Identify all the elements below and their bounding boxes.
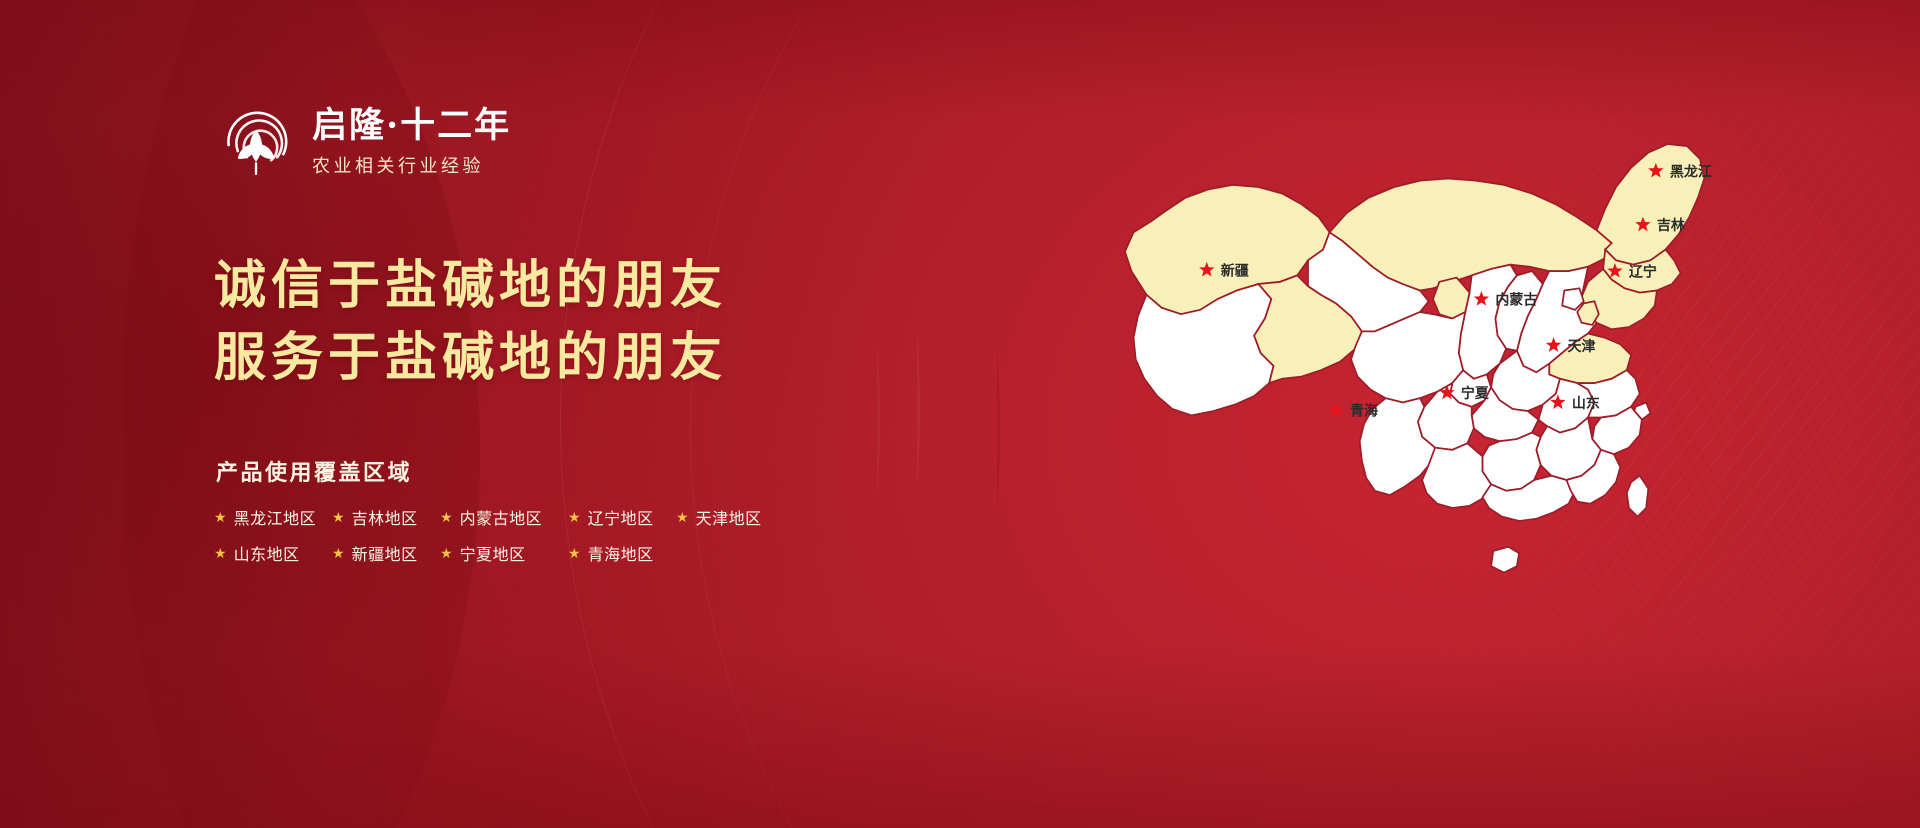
coverage-region-list: ★黑龙江地区★吉林地区★内蒙古地区★辽宁地区★天津地区★山东地区★新疆地区★宁夏… [214,505,796,565]
coverage-region-label: 天津地区 [696,505,762,529]
map-label-shandong: 山东 [1572,395,1600,412]
map-provinces [1125,144,1704,573]
coverage-region-label: 辽宁地区 [588,505,654,529]
map-label-jilin: 吉林 [1657,217,1685,234]
map-label-qinghai: 青海 [1350,402,1378,419]
star-icon: ★ [568,510,581,524]
map-label-tianjin: 天津 [1568,338,1596,355]
star-icon: ★ [332,510,345,524]
coverage-region-label: 黑龙江地区 [234,505,317,529]
star-icon: ★ [332,546,345,560]
brand-subtitle: 农业相关行业经验 [312,152,511,178]
province-guangxi [1422,443,1491,508]
province-heilongjiang [1597,144,1705,265]
coverage-region-item: ★青海地区 [568,541,676,565]
coverage-region-item: ★宁夏地区 [440,541,568,565]
coverage-region-label: 宁夏地区 [460,541,526,565]
map-label-neimenggu: 内蒙古 [1495,291,1537,308]
coverage-region-label: 吉林地区 [352,505,418,529]
star-icon: ★ [676,510,689,524]
star-icon: ★ [440,510,453,524]
star-icon: ★ [214,510,227,524]
map-label-xinjiang: 新疆 [1221,262,1249,279]
headline: 诚信于盐碱地的朋友 服务于盐碱地的朋友 [214,250,727,394]
coverage-region-item: ★天津地区 [676,505,796,529]
coverage-region-item: ★新疆地区 [332,541,440,565]
map-label-ningxia: 宁夏 [1461,385,1490,402]
headline-line-1: 诚信于盐碱地的朋友 [214,250,727,322]
china-coverage-map: 黑龙江吉林辽宁内蒙古天津山东宁夏青海新疆 [1090,60,1750,620]
map-label-liaoning: 辽宁 [1629,263,1657,280]
province-taiwan [1627,476,1649,517]
coverage-region-item: ★内蒙古地区 [440,505,568,529]
coverage-region-item: ★辽宁地区 [568,505,676,529]
coverage-title: 产品使用覆盖区域 [216,455,412,487]
brand-logo: 启隆·十二年 农业相关行业经验 [218,104,511,180]
headline-line-2: 服务于盐碱地的朋友 [214,322,727,394]
star-icon: ★ [440,546,453,560]
left-content: 启隆·十二年 农业相关行业经验 诚信于盐碱地的朋友 服务于盐碱地的朋友 产品使用… [200,0,960,828]
map-marker-qinghai: 青海 [1328,402,1378,419]
red-star-marker [1328,402,1343,417]
coverage-region-label: 新疆地区 [352,541,418,565]
coverage-region-item: ★黑龙江地区 [214,505,332,529]
coverage-region-item: ★吉林地区 [332,505,440,529]
coverage-region-label: 青海地区 [588,541,654,565]
brand-title: 启隆·十二年 [312,106,511,146]
coverage-region-label: 山东地区 [234,541,300,565]
star-icon: ★ [568,546,581,560]
province-hainan [1491,547,1519,573]
coverage-region-label: 内蒙古地区 [460,505,543,529]
coverage-region-item: ★山东地区 [214,541,332,565]
brand-text: 启隆·十二年 农业相关行业经验 [312,106,511,178]
banner-root: 启隆·十二年 农业相关行业经验 诚信于盐碱地的朋友 服务于盐碱地的朋友 产品使用… [0,0,1920,828]
star-icon: ★ [214,546,227,560]
map-label-heilongjiang: 黑龙江 [1670,163,1712,180]
lotus-leaf-circle-icon [218,104,294,180]
